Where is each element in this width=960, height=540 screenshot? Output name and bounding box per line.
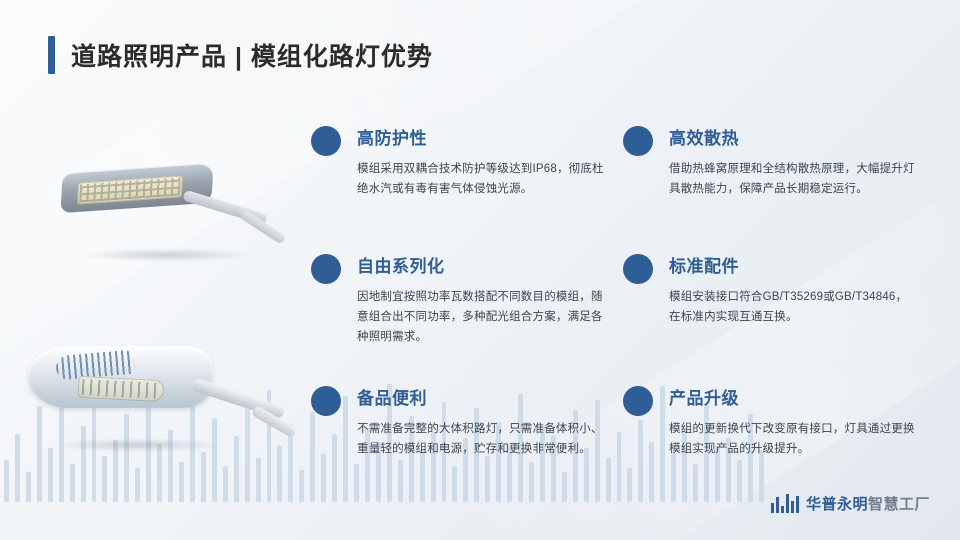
feature-grid: 高防护性 模组采用双耦合技术防护等级达到IP68，彻底杜绝水汽或有毒有害气体侵蚀… [305, 124, 935, 504]
decorative-bar [157, 444, 162, 502]
logo-name: 华普永明 [806, 496, 868, 513]
feature-body: 借助热蜂窝原理和全结构散热原理，大幅提升灯具散热能力，保障产品长期稳定运行。 [669, 159, 917, 199]
feature-title: 高效散热 [669, 124, 917, 149]
logo-bar [791, 501, 794, 513]
bullet-dot-icon [623, 126, 653, 156]
feature-row: 高防护性 模组采用双耦合技术防护等级达到IP68，彻底杜绝水汽或有毒有害气体侵蚀… [305, 124, 935, 252]
feature-item-product-upgrade: 产品升级 模组的更新换代下改变原有接口，灯具通过更换模组实现产品的升级提升。 [617, 384, 917, 504]
lamp-shadow [82, 248, 252, 262]
module-street-lamp-photo [52, 150, 282, 260]
company-logo: 华普永明智慧工厂 [771, 493, 930, 514]
bar-chart-logo-icon [771, 494, 799, 513]
decorative-bar [277, 446, 282, 502]
feature-body: 模组安装接口符合GB/T35269或GB/T34846，在标准内实现互通互换。 [669, 287, 917, 327]
title-accent-bar [48, 36, 55, 74]
lamp-shadow [52, 438, 222, 452]
feature-item-spare-parts: 备品便利 不需准备完整的大体积路灯，只需准备体积小、重量轻的模组和电源，贮存和更… [305, 384, 605, 504]
feature-body: 不需准备完整的大体积路灯，只需准备体积小、重量轻的模组和电源，贮存和更换非常便利… [357, 419, 605, 459]
decorative-bar [135, 468, 140, 502]
feature-title: 高防护性 [357, 124, 605, 149]
feature-item-standard-parts: 标准配件 模组安装接口符合GB/T35269或GB/T34846，在标准内实现互… [617, 252, 917, 384]
page-title: 道路照明产品 | 模组化路灯优势 [48, 36, 433, 74]
bullet-dot-icon [311, 254, 341, 284]
slide: 道路照明产品 | 模组化路灯优势 高防护性 模组采用双耦合技术防护等级达到IP6… [0, 0, 960, 540]
feature-item-heat-dissipation: 高效散热 借助热蜂窝原理和全结构散热原理，大幅提升灯具散热能力，保障产品长期稳定… [617, 124, 917, 252]
bullet-dot-icon [311, 386, 341, 416]
decorative-bar [70, 464, 75, 502]
bullet-dot-icon [623, 386, 653, 416]
feature-body: 因地制宜按照功率瓦数搭配不同数目的模组，随意组合出不同功率，多种配光组合方案，满… [357, 287, 605, 347]
feature-title: 备品便利 [357, 384, 605, 409]
feature-row: 备品便利 不需准备完整的大体积路灯，只需准备体积小、重量轻的模组和电源，贮存和更… [305, 384, 935, 504]
logo-text: 华普永明智慧工厂 [806, 493, 930, 514]
bullet-dot-icon [623, 254, 653, 284]
logo-bar [781, 506, 784, 513]
logo-bar [796, 496, 799, 513]
logo-bar [786, 494, 789, 513]
feature-row: 自由系列化 因地制宜按照功率瓦数搭配不同数目的模组，随意组合出不同功率，多种配光… [305, 252, 935, 384]
title-text: 道路照明产品 | 模组化路灯优势 [71, 37, 433, 73]
decorative-bar [15, 434, 20, 502]
decorative-bar [299, 470, 304, 502]
bullet-dot-icon [311, 126, 341, 156]
logo-bar [776, 497, 779, 513]
decorative-bar [223, 466, 228, 502]
feature-item-high-protection: 高防护性 模组采用双耦合技术防护等级达到IP68，彻底杜绝水汽或有毒有害气体侵蚀… [305, 124, 605, 252]
decorative-bar [26, 472, 31, 502]
feature-body: 模组的更新换代下改变原有接口，灯具通过更换模组实现产品的升级提升。 [669, 419, 917, 459]
decorative-bar [179, 462, 184, 502]
logo-suffix: 智慧工厂 [868, 496, 930, 513]
decorative-bar [48, 448, 53, 502]
feature-title: 标准配件 [669, 252, 917, 277]
decorative-bar [201, 452, 206, 502]
decorative-bar [256, 458, 261, 502]
feature-title: 自由系列化 [357, 252, 605, 277]
feature-body: 模组采用双耦合技术防护等级达到IP68，彻底杜绝水汽或有毒有害气体侵蚀光源。 [357, 159, 605, 199]
decorative-bar [4, 460, 9, 502]
feature-title: 产品升级 [669, 384, 917, 409]
feature-item-free-series: 自由系列化 因地制宜按照功率瓦数搭配不同数目的模组，随意组合出不同功率，多种配光… [305, 252, 605, 384]
streamline-street-lamp-photo [22, 320, 292, 450]
logo-bar [771, 503, 774, 513]
decorative-bar [102, 456, 107, 502]
